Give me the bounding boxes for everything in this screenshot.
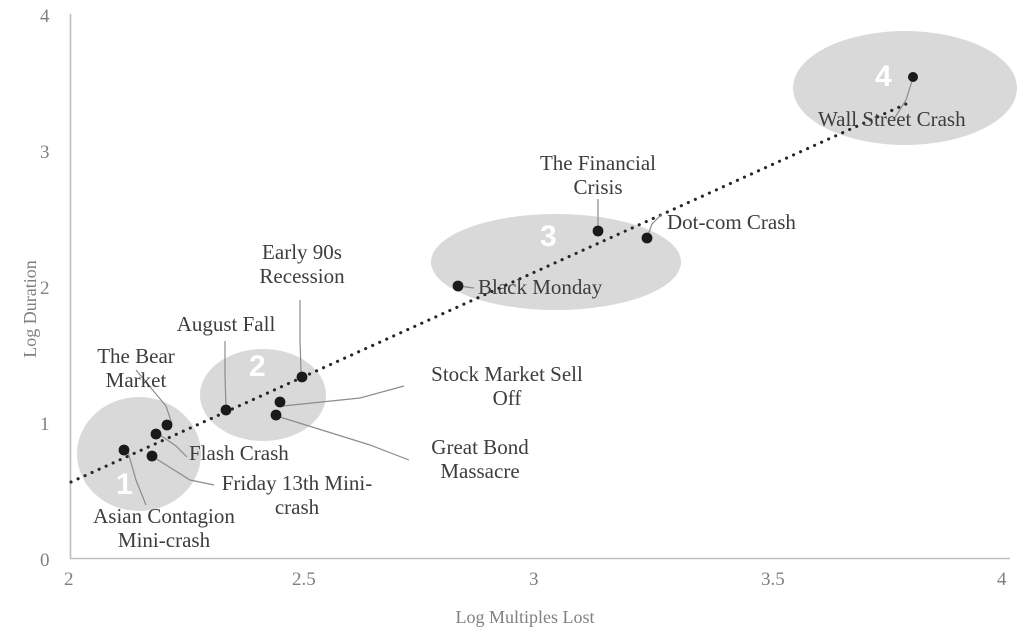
label-flash-crash: Flash Crash xyxy=(189,442,315,466)
point-dot-com-crash xyxy=(642,233,653,244)
label-black-monday: Black Monday xyxy=(478,276,630,300)
point-black-monday xyxy=(453,281,464,292)
y-tick-4: 4 xyxy=(40,7,50,26)
point-wall-street-crash xyxy=(908,72,918,82)
x-axis-title: Log Multiples Lost xyxy=(400,608,650,626)
y-axis-title: Log Duration xyxy=(21,249,39,369)
point-august-fall xyxy=(221,405,232,416)
x-tick-3-5: 3.5 xyxy=(761,570,785,589)
label-august-fall: August Fall xyxy=(168,313,284,337)
point-the-financial-crisis xyxy=(593,226,604,237)
leader-early-90s xyxy=(300,300,301,372)
y-tick-1: 1 xyxy=(40,415,50,434)
cluster-ellipse-1 xyxy=(77,397,201,511)
label-early-90s-recession: Early 90s Recession xyxy=(250,241,354,288)
cluster-number-1: 1 xyxy=(116,470,133,500)
point-asian-contagion xyxy=(119,445,130,456)
y-tick-0: 0 xyxy=(40,551,50,570)
point-great-bond-massacre xyxy=(271,410,282,421)
cluster-number-2: 2 xyxy=(249,352,266,382)
label-dot-com-crash: Dot-com Crash xyxy=(667,211,827,235)
x-tick-2: 2 xyxy=(64,570,74,589)
point-stock-market-sell-off xyxy=(275,397,286,408)
label-stock-market-sell-off: Stock Market Sell Off xyxy=(410,363,604,410)
point-flash-crash xyxy=(151,429,162,440)
x-tick-3: 3 xyxy=(529,570,539,589)
point-early-90s-recession xyxy=(297,372,308,383)
label-wall-street-crash: Wall Street Crash xyxy=(818,108,1002,132)
x-tick-2-5: 2.5 xyxy=(292,570,316,589)
point-the-bear-market xyxy=(162,420,173,431)
label-the-bear-market: The Bear Market xyxy=(86,345,186,392)
cluster-number-4: 4 xyxy=(875,62,892,92)
y-tick-2: 2 xyxy=(40,279,50,298)
y-tick-3: 3 xyxy=(40,143,50,162)
label-the-financial-crisis: The Financial Crisis xyxy=(524,152,672,199)
x-tick-4: 4 xyxy=(997,570,1007,589)
point-friday-13th xyxy=(147,451,158,462)
label-asian-contagion-mini-crash: Asian Contagion Mini-crash xyxy=(78,505,250,552)
label-great-bond-massacre: Great Bond Massacre xyxy=(415,436,545,483)
cluster-number-3: 3 xyxy=(540,222,557,252)
scatter-chart: 4 3 2 1 0 2 2.5 3 3.5 4 Log Duration Log… xyxy=(0,0,1024,641)
